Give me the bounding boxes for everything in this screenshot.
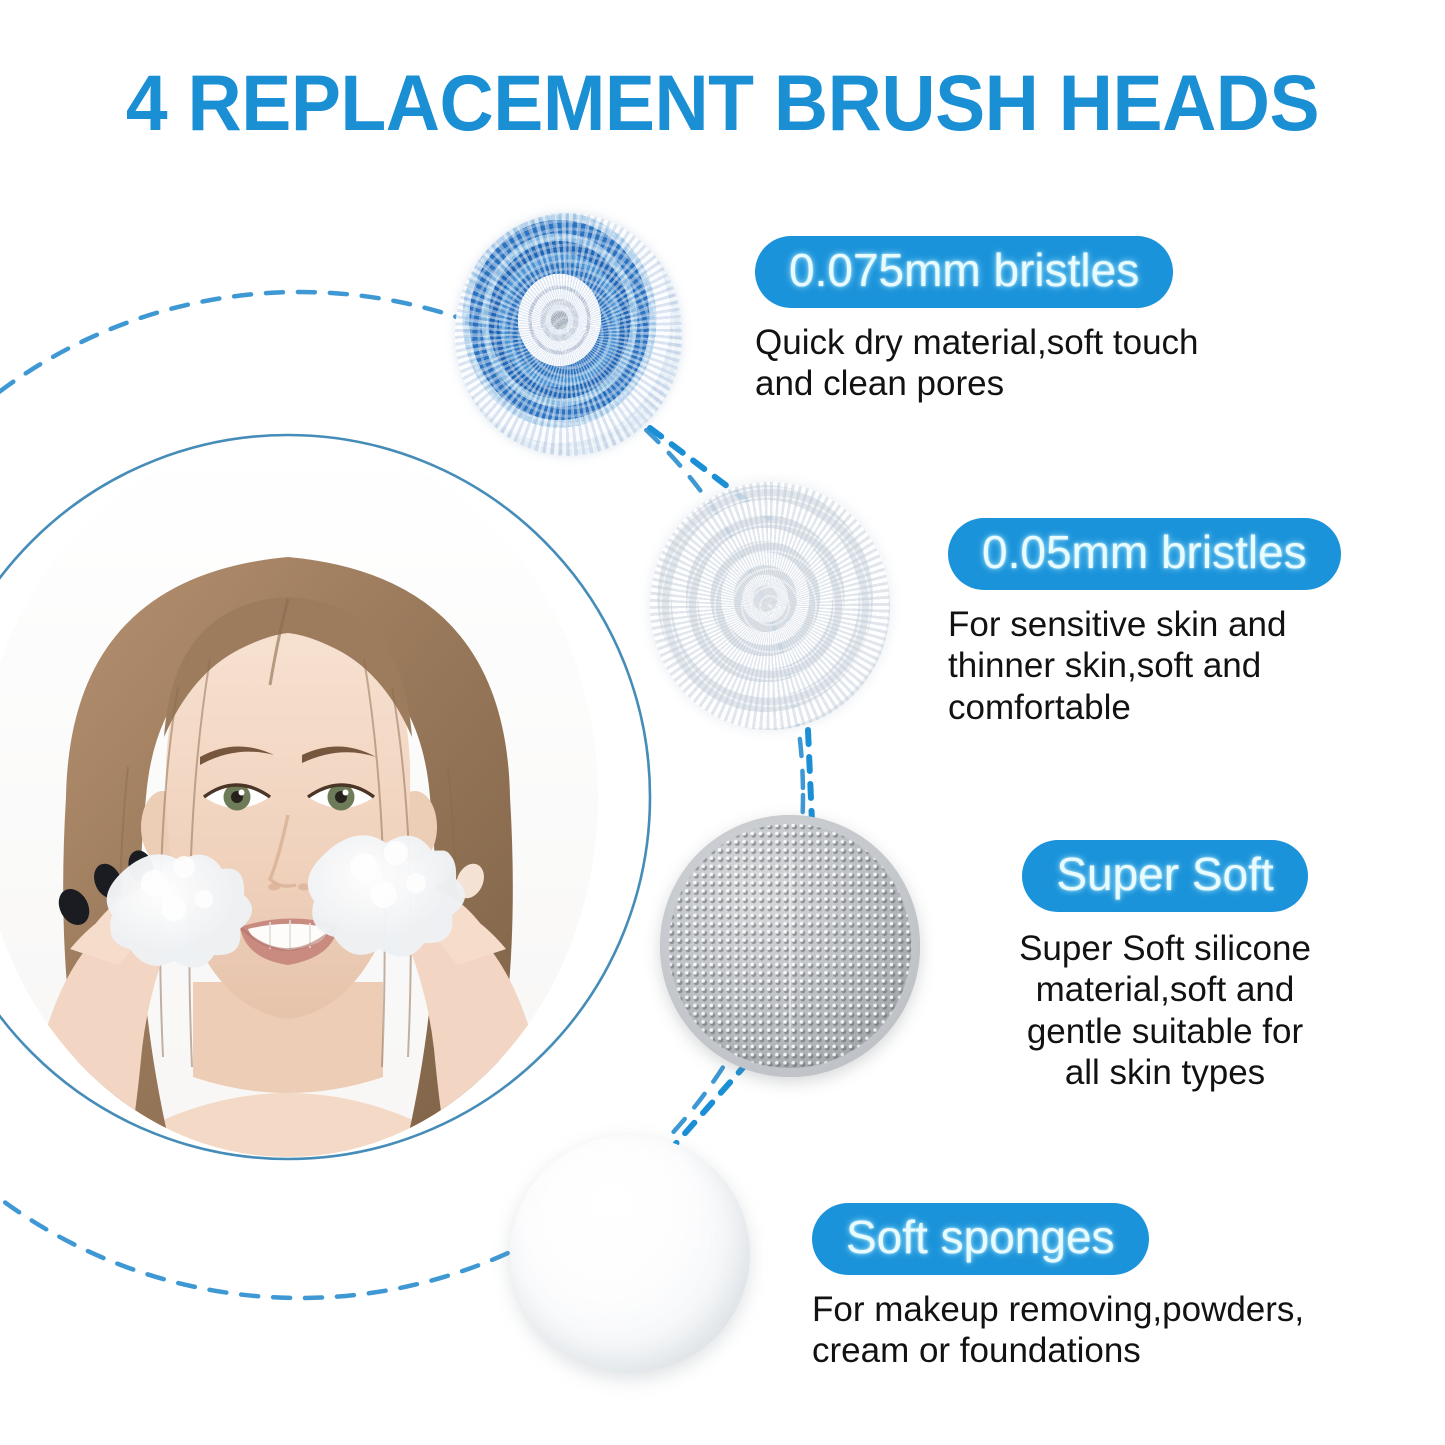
connector-line-3 [672,1062,748,1148]
sponge-highlight [544,1154,683,1249]
callout-description: For makeup removing,powders, cream or fo… [812,1289,1304,1372]
product-blue-bristle-brush-head [455,213,682,456]
callout-description: Super Soft silicone material,soft and ge… [990,928,1340,1093]
product-white-sponge-puff [510,1135,750,1373]
callout-description: For sensitive skin and thinner skin,soft… [948,604,1341,728]
silicone-rim [660,815,920,1077]
page-title: 4 REPLACEMENT BRUSH HEADS [36,62,1409,145]
badge-label: Super Soft [1022,840,1307,912]
callout-soft-sponges: Soft sponges For makeup removing,powders… [812,1203,1304,1372]
callout-description: Quick dry material,soft touch and clean … [755,322,1199,405]
callout-bristles-005: 0.05mm bristles For sensitive skin and t… [948,518,1341,728]
badge-label: 0.05mm bristles [948,518,1341,590]
connector-line-2 [808,730,812,822]
bristle-texture [650,482,890,730]
bristle-texture-overlay [455,213,682,456]
badge-label: 0.075mm bristles [755,236,1173,308]
product-white-bristle-brush-head [650,482,890,730]
product-gray-silicone-pad [660,815,920,1077]
badge-label: Soft sponges [812,1203,1149,1275]
hero-portrait [0,437,598,1157]
infographic-canvas: 4 REPLACEMENT BRUSH HEADS [0,0,1445,1445]
callout-super-soft: Super Soft Super Soft silicone material,… [990,840,1340,1093]
callout-bristles-0075: 0.075mm bristles Quick dry material,soft… [755,236,1199,405]
